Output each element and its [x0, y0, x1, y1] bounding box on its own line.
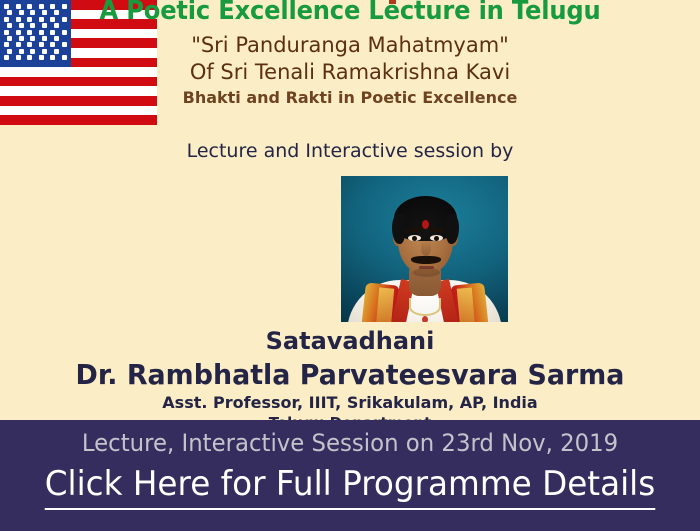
photo-tilak [422, 220, 429, 229]
photo-moustache [411, 256, 441, 264]
photo-nose [421, 240, 431, 256]
click-here-link-text: Click Here for Full Programme Details [45, 464, 656, 510]
photo-pupil-left [412, 236, 417, 241]
poster-main-title: A Poetic Excellence Lecture in Telugu [25, 0, 676, 26]
photo-necklace [409, 298, 441, 316]
poster-banner-ad[interactable]: A Poetic Excellence Lecture in Telugu "S… [0, 0, 700, 531]
speaker-honorific: Satavadhani [0, 327, 700, 355]
click-here-link[interactable]: Click Here for Full Programme Details [14, 464, 686, 504]
poster-subtitle-author: Of Sri Tenali Ramakrishna Kavi [0, 60, 700, 84]
lecture-by-label: Lecture and Interactive session by [0, 140, 700, 162]
photo-hair-side-left [392, 214, 405, 244]
photo-chin-shadow [413, 268, 440, 277]
cta-banner[interactable]: Lecture, Interactive Session on 23rd Nov… [0, 420, 700, 531]
event-date-line: Lecture, Interactive Session on 23rd Nov… [18, 429, 683, 457]
photo-pendant [422, 316, 428, 322]
speaker-name: Dr. Rambhatla Parvateesvara Sarma [14, 358, 686, 391]
speaker-affiliation: Asst. Professor, IIIT, Srikakulam, AP, I… [0, 393, 700, 412]
photo-pupil-right [434, 236, 439, 241]
poster-subtitle-work: "Sri Panduranga Mahatmyam" [0, 33, 700, 57]
speaker-photo [341, 176, 508, 322]
poster-subtitle-theme: Bhakti and Rakti in Poetic Excellence [0, 88, 700, 107]
